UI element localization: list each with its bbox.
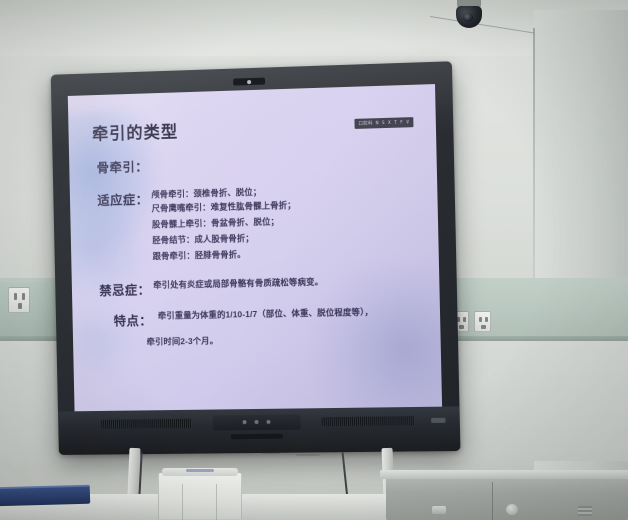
speaker-grille-right	[322, 416, 415, 426]
brand-logo	[431, 418, 445, 423]
container-seam-right	[216, 484, 217, 520]
speaker-grille-left	[101, 419, 192, 429]
container-seam-left	[182, 484, 183, 520]
control-panel[interactable]	[213, 414, 301, 430]
container-handle	[186, 469, 214, 472]
cabinet-vent-icon	[578, 506, 592, 516]
cabinet-handle-left[interactable]	[432, 506, 446, 514]
indications-list: 颅骨牵引：颈椎骨折、脱位； 尺骨鹰嘴牵引：难复性肱骨髁上骨折； 股骨髁上牵引：骨…	[148, 181, 424, 265]
ir-sensor-strip	[231, 434, 283, 440]
bottom-bezel	[58, 406, 460, 455]
indications-label: 适应症：	[97, 189, 148, 209]
cabinet-knob-right[interactable]	[506, 504, 518, 515]
wall-outlet-left[interactable]	[8, 287, 30, 313]
camera-lens-icon	[463, 13, 473, 22]
blue-table	[0, 487, 90, 507]
features-list: 牵引重量为体重的1/10-1/7（部位、体重、脱位程度等），	[152, 305, 426, 324]
classroom-photo-scene: 口腔科 N S X T F V 牵引的类型 骨牵引： 适应症： 颅骨牵引：颈椎骨…	[0, 0, 628, 520]
indications-block: 适应症： 颅骨牵引：颈椎骨折、脱位； 尺骨鹰嘴牵引：难复性肱骨髁上骨折； 股骨髁…	[91, 181, 424, 266]
features-line-1: 牵引重量为体重的1/10-1/7（部位、体重、脱位程度等），	[155, 305, 426, 323]
slide-subtitle: 骨牵引：	[96, 148, 422, 176]
wall-outlet-right-2[interactable]	[474, 311, 491, 332]
contraindications-block: 禁忌症： 牵引处有炎症或局部骨骼有骨质疏松等病变。	[93, 273, 425, 299]
cabinet-top-surface	[380, 470, 628, 479]
white-storage-container	[158, 472, 242, 520]
contraindications-text: 牵引处有炎症或局部骨骼有骨质疏松等病变。	[150, 275, 323, 292]
features-label: 特点：	[114, 310, 153, 330]
contraindications-label: 禁忌症：	[99, 279, 151, 299]
slide-content: 牵引的类型 骨牵引： 适应症： 颅骨牵引：颈椎骨折、脱位； 尺骨鹰嘴牵引：难复性…	[90, 111, 427, 350]
cabinet-drawer-seam	[492, 482, 493, 520]
display-screen[interactable]: 口腔科 N S X T F V 牵引的类型 骨牵引： 适应症： 颅骨牵引：颈椎骨…	[68, 84, 442, 411]
interactive-whiteboard[interactable]: 口腔科 N S X T F V 牵引的类型 骨牵引： 适应症： 颅骨牵引：颈椎骨…	[51, 61, 461, 455]
wall-mark-2	[296, 454, 320, 456]
features-block: 特点： 牵引重量为体重的1/10-1/7（部位、体重、脱位程度等），	[94, 305, 426, 330]
